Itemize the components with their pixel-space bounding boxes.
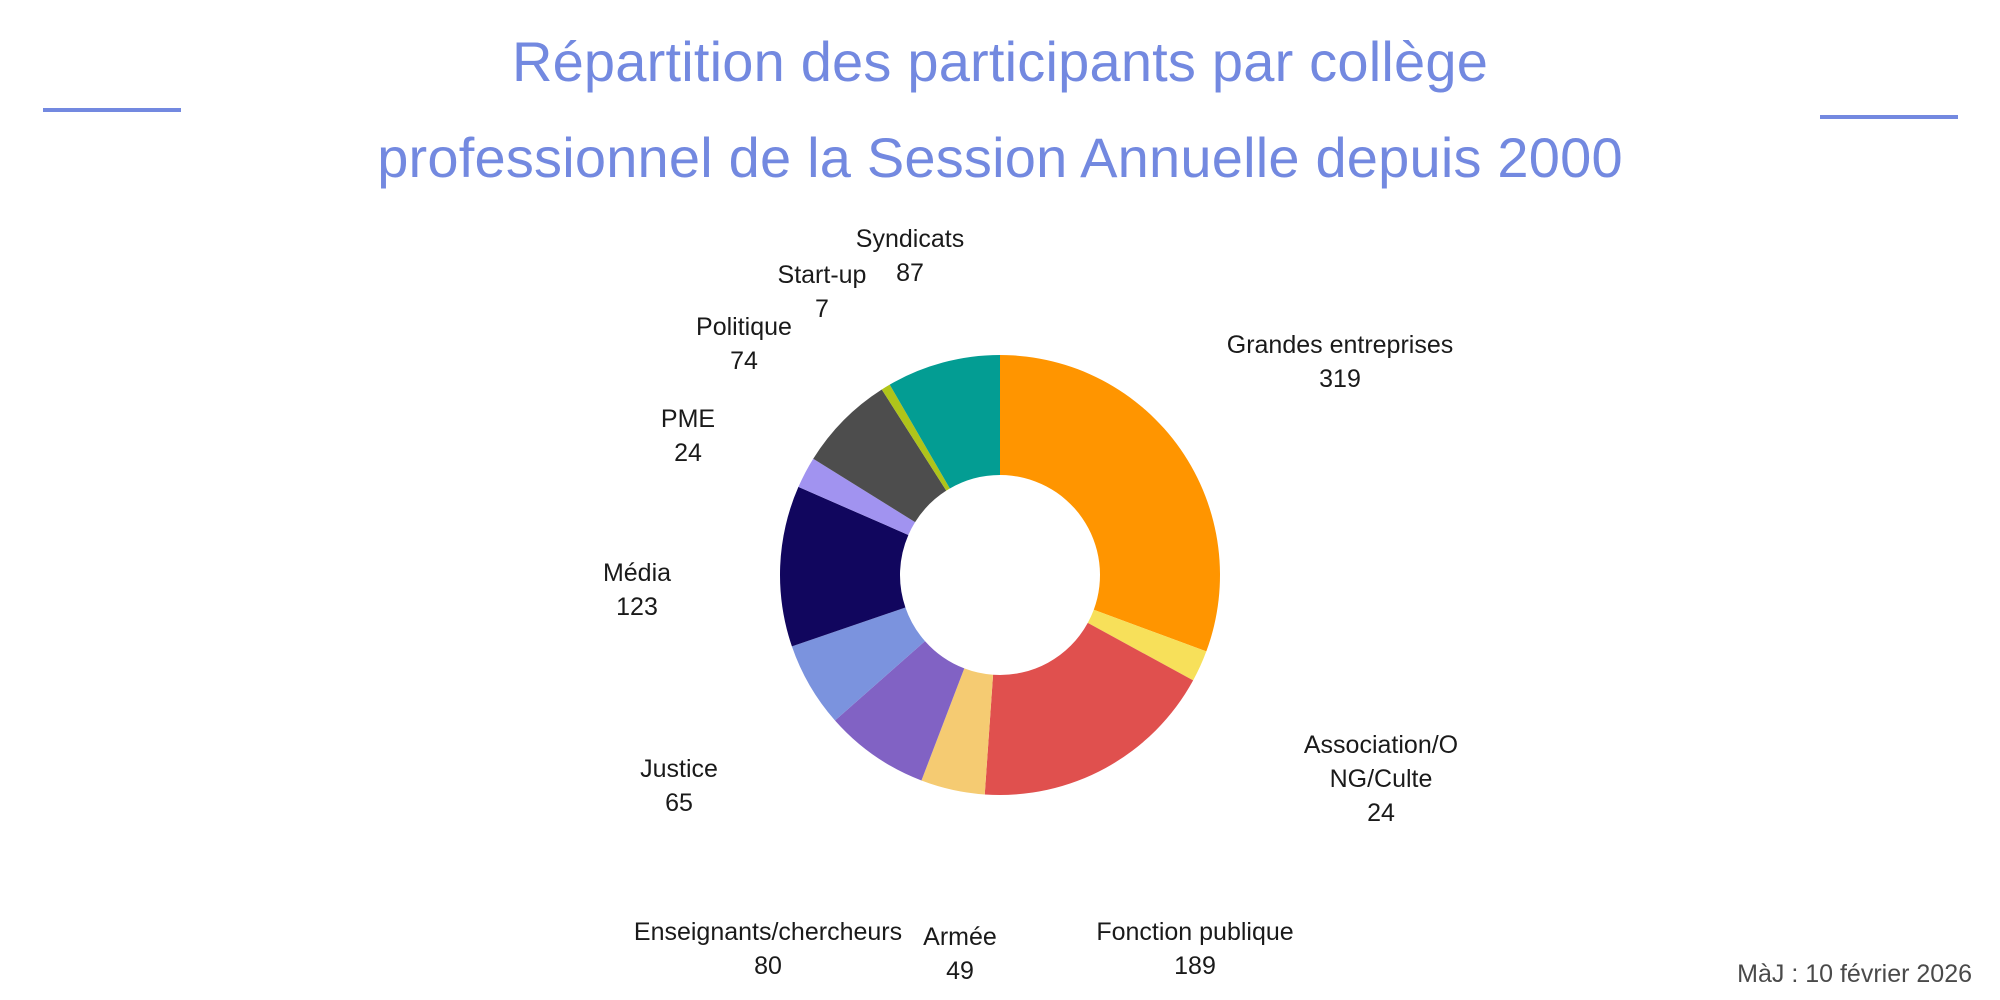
donut-slice-label: Start-up7 [778,258,867,326]
donut-slice-label: Association/ONG/Culte24 [1304,728,1458,830]
donut-slice-label: Justice65 [640,752,718,820]
donut-slice-label-line: 24 [1304,796,1458,830]
donut-slice-label: PME24 [661,402,715,470]
donut-slice-label-line: Syndicats [856,222,964,256]
donut-slice-label-line: Justice [640,752,718,786]
donut-slice-label-line: 319 [1227,362,1454,396]
donut-slice-label-line: 49 [923,954,997,988]
donut-slice-group [780,355,1220,795]
donut-slice-label: Média123 [603,556,671,624]
donut-slice-label: Enseignants/chercheurs80 [634,915,902,983]
donut-slice-label: Syndicats87 [856,222,964,290]
donut-slice-label-line: 24 [661,436,715,470]
donut-slice-label-line: 80 [634,949,902,983]
donut-chart: Grandes entreprises319Association/ONG/Cu… [0,0,2000,1000]
donut-slice-label: Grandes entreprises319 [1227,328,1454,396]
donut-slice-label-line: 87 [856,256,964,290]
donut-slice-label-line: Start-up [778,258,867,292]
donut-slice-label: Armée49 [923,920,997,988]
last-updated-note: MàJ : 10 février 2026 [1737,958,1972,990]
donut-slice[interactable] [1000,355,1220,651]
donut-slice-label-line: Fonction publique [1096,915,1293,949]
donut-slice-label-line: Média [603,556,671,590]
donut-slice-label-line: 123 [603,590,671,624]
donut-slice-label: Fonction publique189 [1096,915,1293,983]
donut-slice-label-line: 74 [696,344,792,378]
donut-slice-label-line: 65 [640,786,718,820]
donut-slice-label-line: Grandes entreprises [1227,328,1454,362]
donut-slice-label-line: Association/O [1304,728,1458,762]
donut-slice-label-line: NG/Culte [1304,762,1458,796]
donut-slice-label-line: Armée [923,920,997,954]
donut-slice-label-line: 189 [1096,949,1293,983]
donut-slice-label-line: Enseignants/chercheurs [634,915,902,949]
donut-slice-label-line: 7 [778,292,867,326]
donut-slice-label-line: PME [661,402,715,436]
donut-chart-svg [0,0,2000,1000]
